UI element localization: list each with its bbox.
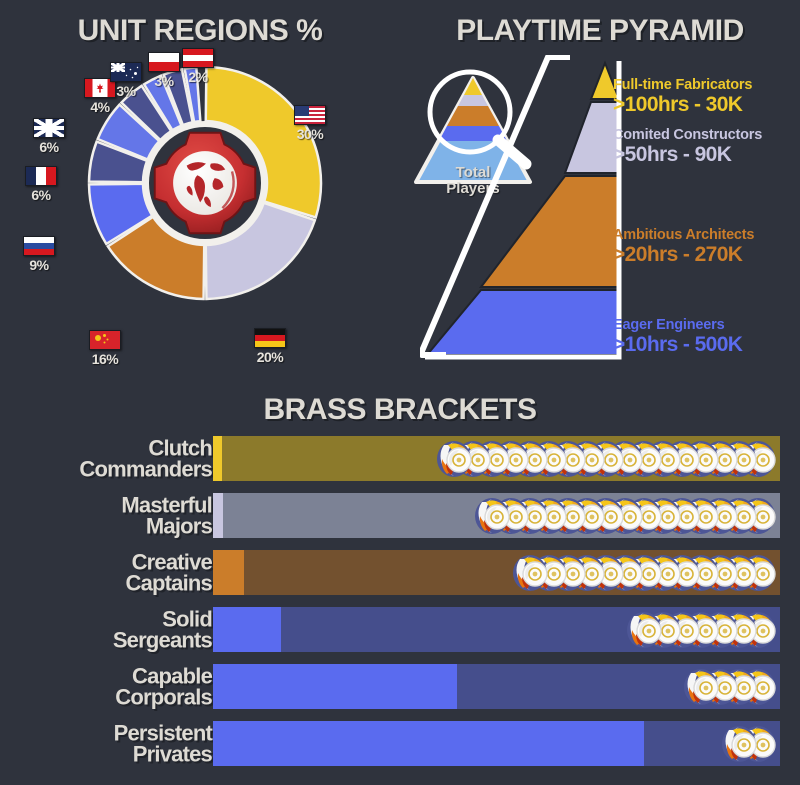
flag-icon-gb [33,118,65,138]
bracket-bar-track[interactable] [213,721,780,766]
pyramid-tier-3 [481,176,619,287]
unit-regions-panel: UNIT REGIONS % [0,0,400,390]
bracket-bar-fill [213,607,281,652]
bracket-label-line-2: Privates [12,744,212,766]
bracket-row-label: MasterfulMajors [12,494,212,537]
region-label-france: 6% [14,166,68,203]
region-label-united-kingdom: 6% [22,118,76,155]
bracket-label-line-2: Captains [12,573,212,595]
pyramid-legend-item-1: Full-time Fabricators>100hrs - 30K [613,78,752,115]
pyramid-tier-4 [427,290,619,355]
bracket-row: SolidSergeants [0,603,800,656]
region-label-austria: 2% [171,48,225,85]
pyramid-tier-value: >20hrs - 270K [613,244,754,265]
bracket-bar-fill [213,664,457,709]
bracket-bar-fill [213,721,644,766]
pyramid-legend-item-3: Ambitious Architects>20hrs - 270K [613,228,754,265]
bracket-label-line-2: Majors [12,516,212,538]
region-percent: 16% [78,351,132,367]
bracket-bar-track[interactable] [213,664,780,709]
region-label-germany: 20% [243,328,297,365]
bracket-row-label: PersistentPrivates [12,722,212,765]
region-label-russia: 9% [12,236,66,273]
page-title-playtime-pyramid: PLAYTIME PYRAMID [400,14,800,48]
bracket-bar-track[interactable] [213,493,780,538]
region-label-china: 16% [78,330,132,367]
bracket-row-label: CapableCorporals [12,665,212,708]
pyramid-tier-value: >10hrs - 500K [613,334,742,355]
bracket-row: PersistentPrivates [0,717,800,770]
globe-shield-emblem [147,125,263,241]
bracket-label-line-1: Solid [12,608,212,630]
bracket-label-line-1: Persistent [12,722,212,744]
bracket-bar-fill [213,550,244,595]
bracket-row: CapableCorporals [0,660,800,713]
bracket-label-line-2: Corporals [12,687,212,709]
playtime-pyramid-panel: PLAYTIME PYRAMID Total Players Full-time… [400,0,800,390]
flag-icon-us [294,105,326,125]
pyramid-tier-value: >100hrs - 30K [613,94,752,115]
bracket-label-line-1: Creative [12,551,212,573]
pyramid-tier-2 [565,102,619,173]
flag-icon-de [254,328,286,348]
bracket-bar-remainder [213,493,780,538]
bracket-row: ClutchCommanders [0,432,800,485]
bracket-row-label: ClutchCommanders [12,437,212,480]
bracket-row: CreativeCaptains [0,546,800,599]
bracket-bar-track[interactable] [213,436,780,481]
flag-icon-ru [23,236,55,256]
bracket-row-label: SolidSergeants [12,608,212,651]
bracket-label-line-1: Clutch [12,437,212,459]
bracket-bar-remainder [213,607,780,652]
pyramid-legend-item-2: Comited Constructors>50hrs - 90K [613,128,762,165]
region-percent: 6% [14,187,68,203]
region-percent: 2% [171,69,225,85]
bracket-row: MasterfulMajors [0,489,800,542]
bracket-label-line-1: Masterful [12,494,212,516]
bracket-row-label: CreativeCaptains [12,551,212,594]
flag-icon-cn [89,330,121,350]
region-percent: 6% [22,139,76,155]
brass-brackets-panel: BRASS BRACKETS ClutchCommanders [0,388,800,785]
bracket-bar-remainder [213,436,780,481]
flag-icon-at [182,48,214,68]
pyramid-legend-item-4: Eager Engineers>10hrs - 500K [613,318,742,355]
bracket-label-line-2: Commanders [12,459,212,481]
page-title-brass-brackets: BRASS BRACKETS [0,393,800,427]
region-percent: 20% [243,349,297,365]
region-percent: 9% [12,257,66,273]
region-label-united-states: 30% [283,105,337,142]
pyramid-tier-value: >50hrs - 90K [613,144,762,165]
bracket-bar-track[interactable] [213,607,780,652]
pyramid-tier-name: Eager Engineers [613,318,742,333]
bracket-label-line-2: Sergeants [12,630,212,652]
pyramid-tier-name: Full-time Fabricators [613,78,752,93]
bracket-label-line-1: Capable [12,665,212,687]
bracket-bar-track[interactable] [213,550,780,595]
flag-icon-fr [25,166,57,186]
page-title-unit-regions: UNIT REGIONS % [0,14,400,48]
bracket-bar-remainder [213,550,780,595]
pyramid-tier-name: Comited Constructors [613,128,762,143]
region-percent: 30% [283,126,337,142]
pyramid-tier-name: Ambitious Architects [613,228,754,243]
bracket-bar-fill [213,493,223,538]
region-percent: 4% [73,99,127,115]
bracket-bar-fill [213,436,222,481]
